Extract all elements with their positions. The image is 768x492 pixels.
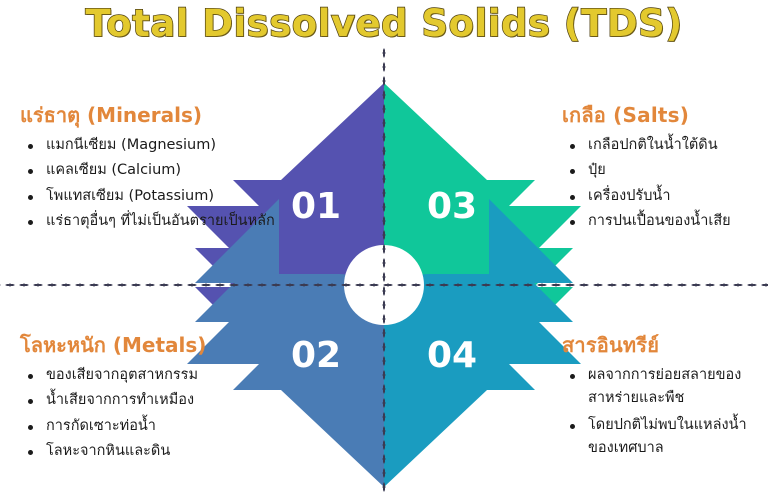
quadrant-organics: สารอินทรีย์ ผลจากการย่อยสลายของสาหร่ายแล…	[562, 333, 768, 464]
quadrant-minerals-heading: แร่ธาตุ (Minerals)	[20, 103, 285, 128]
list-item: โพแทสเซียม (Potassium)	[20, 185, 285, 208]
list-item: เกลือปกติในน้ำใต้ดิน	[562, 134, 768, 157]
quadrant-organics-list: ผลจากการย่อยสลายของสาหร่ายและพืช โดยปกติ…	[562, 364, 768, 460]
infographic-canvas: Total Dissolved Solids (TDS) 01 03 02 04…	[0, 0, 768, 492]
quadrant-minerals-list: แมกนีเซียม (Magnesium) แคลเซียม (Calcium…	[20, 134, 285, 234]
segment-02-number: 02	[291, 335, 341, 376]
segment-01-number: 01	[291, 186, 341, 227]
list-item: ปุ๋ย	[562, 159, 768, 182]
quadrant-organics-heading: สารอินทรีย์	[562, 333, 768, 358]
quadrant-minerals: แร่ธาตุ (Minerals) แมกนีเซียม (Magnesium…	[20, 103, 285, 236]
list-item: การปนเปื้อนของน้ำเสีย	[562, 210, 768, 233]
quadrant-salts: เกลือ (Salts) เกลือปกติในน้ำใต้ดิน ปุ๋ย …	[562, 103, 768, 236]
quadrant-salts-list: เกลือปกติในน้ำใต้ดิน ปุ๋ย เครื่องปรับน้ำ…	[562, 134, 768, 234]
list-item: เครื่องปรับน้ำ	[562, 185, 768, 208]
quadrant-metals: โลหะหนัก (Metals) ของเสียจากอุตสาหกรรม น…	[20, 333, 285, 466]
list-item: โดยปกติไม่พบในแหล่งน้ำของเทศบาล	[562, 414, 768, 460]
vertical-dotted-divider	[382, 44, 386, 492]
list-item: ของเสียจากอุตสาหกรรม	[20, 364, 285, 387]
quadrant-salts-heading: เกลือ (Salts)	[562, 103, 768, 128]
segment-03-number: 03	[427, 186, 477, 227]
list-item: แร่ธาตุอื่นๆ ที่ไม่เป็นอันตรายเป็นหลัก	[20, 210, 285, 233]
segment-04-number: 04	[427, 335, 477, 376]
list-item: น้ำเสียจากการทำเหมือง	[20, 389, 285, 412]
list-item: แคลเซียม (Calcium)	[20, 159, 285, 182]
quadrant-metals-heading: โลหะหนัก (Metals)	[20, 333, 285, 358]
list-item: แมกนีเซียม (Magnesium)	[20, 134, 285, 157]
list-item: โลหะจากหินและดิน	[20, 440, 285, 463]
list-item: ผลจากการย่อยสลายของสาหร่ายและพืช	[562, 364, 768, 410]
quadrant-metals-list: ของเสียจากอุตสาหกรรม น้ำเสียจากการทำเหมื…	[20, 364, 285, 464]
page-title: Total Dissolved Solids (TDS)	[0, 2, 768, 45]
list-item: การกัดเซาะท่อน้ำ	[20, 415, 285, 438]
